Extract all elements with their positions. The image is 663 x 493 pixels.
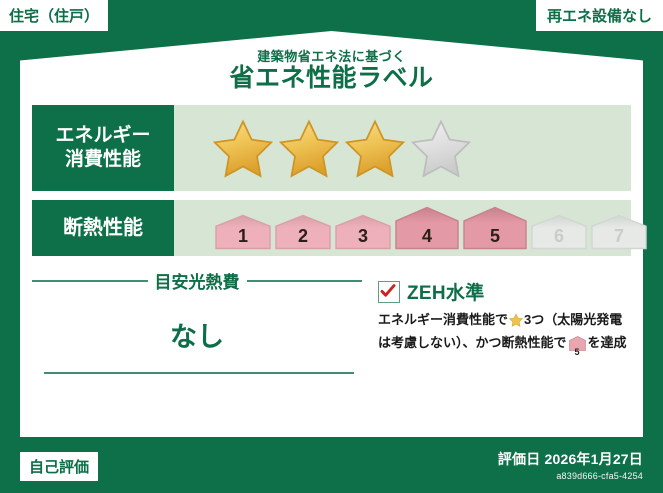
star-rating (212, 118, 472, 178)
star-icon-filled (278, 118, 340, 178)
energy-performance-label-line1: エネルギー (55, 124, 150, 148)
zeh-title: ZEH水準 (407, 278, 485, 305)
zeh-desc-part3: を達成 (588, 335, 627, 350)
checkmark-icon (380, 283, 396, 299)
insulation-grade-2: 2 (274, 214, 332, 250)
label-header: 建築物省エネ法に基づく 省エネ性能ラベル (20, 31, 643, 95)
insulation-grade-number: 5 (462, 226, 528, 247)
utility-cost-bottom-divider (44, 372, 354, 374)
zeh-desc-part2: は考慮しない）、かつ断熱性能で (378, 335, 567, 350)
star-icon-empty (410, 118, 472, 178)
insulation-grade-7: 7 (590, 214, 648, 250)
insulation-grade-number: 2 (274, 226, 332, 247)
badge-self-evaluation: 自己評価 (20, 452, 98, 481)
house-icon-inline-grade: 5 (569, 348, 586, 357)
zeh-column: ZEH水準 エネルギー消費性能で3つ（太陽光発電は考慮しない）、かつ断熱性能で5… (378, 256, 658, 357)
page-subtitle: 建築物省エネ法に基づく (257, 50, 406, 64)
energy-performance-row: エネルギー 消費性能 (32, 105, 631, 191)
evaluation-date: 評価日 2026年1月27日 (498, 449, 643, 469)
insulation-grade-number: 3 (334, 226, 392, 247)
evaluation-id: a839d666-cfa5-4254 (498, 471, 643, 481)
insulation-grade-1: 1 (214, 214, 272, 250)
star-icon-filled (212, 118, 274, 178)
house-icon-inline: 5 (569, 336, 586, 357)
divider-left (32, 280, 148, 282)
utility-cost-value: なし (32, 315, 362, 354)
insulation-grade-number: 1 (214, 226, 272, 247)
star-icon-inline (509, 313, 523, 333)
zeh-checkbox[interactable] (378, 281, 400, 303)
energy-performance-label-line2: 消費性能 (65, 148, 141, 172)
insulation-grade-number: 7 (590, 226, 648, 247)
insulation-grade-number: 4 (394, 226, 460, 247)
page-title: 省エネ性能ラベル (229, 64, 433, 93)
star-icon-filled (344, 118, 406, 178)
insulation-grade-3: 3 (334, 214, 392, 250)
insulation-grade-4: 4 (394, 206, 460, 250)
divider-right (247, 280, 363, 282)
badge-building-type: 住宅（住戸） (0, 0, 108, 31)
utility-cost-title: 目安光熱費 (148, 268, 247, 293)
footer-evaluation-info: 評価日 2026年1月27日 a839d666-cfa5-4254 (498, 449, 643, 481)
utility-cost-column: 目安光熱費 なし (32, 256, 362, 431)
zeh-header: ZEH水準 (378, 278, 658, 305)
insulation-grade-5: 5 (462, 206, 528, 250)
insulation-performance-row: 断熱性能 1234567 (32, 200, 631, 256)
lower-section: 目安光熱費 なし ZEH水準 エネルギー消費性能で3つ（太陽光発電は考慮しない）… (20, 256, 643, 431)
zeh-description: エネルギー消費性能で3つ（太陽光発電は考慮しない）、かつ断熱性能で5を達成 (378, 310, 658, 357)
zeh-desc-stars: 3つ（太陽光発電 (524, 312, 622, 327)
insulation-performance-value: 1234567 (174, 200, 648, 256)
insulation-grade-scale: 1234567 (212, 206, 648, 250)
insulation-grade-number: 6 (530, 226, 588, 247)
energy-performance-value (174, 105, 631, 191)
insulation-performance-label: 断熱性能 (32, 200, 174, 256)
badge-renewable-energy: 再エネ設備なし (536, 0, 663, 31)
utility-cost-header: 目安光熱費 (32, 268, 362, 293)
insulation-grade-6: 6 (530, 214, 588, 250)
energy-performance-label: エネルギー 消費性能 (32, 105, 174, 191)
zeh-desc-part1: エネルギー消費性能で (378, 312, 508, 327)
label-body-card: エネルギー 消費性能 断熱性能 1234567 目安光熱費 なし (20, 95, 643, 437)
